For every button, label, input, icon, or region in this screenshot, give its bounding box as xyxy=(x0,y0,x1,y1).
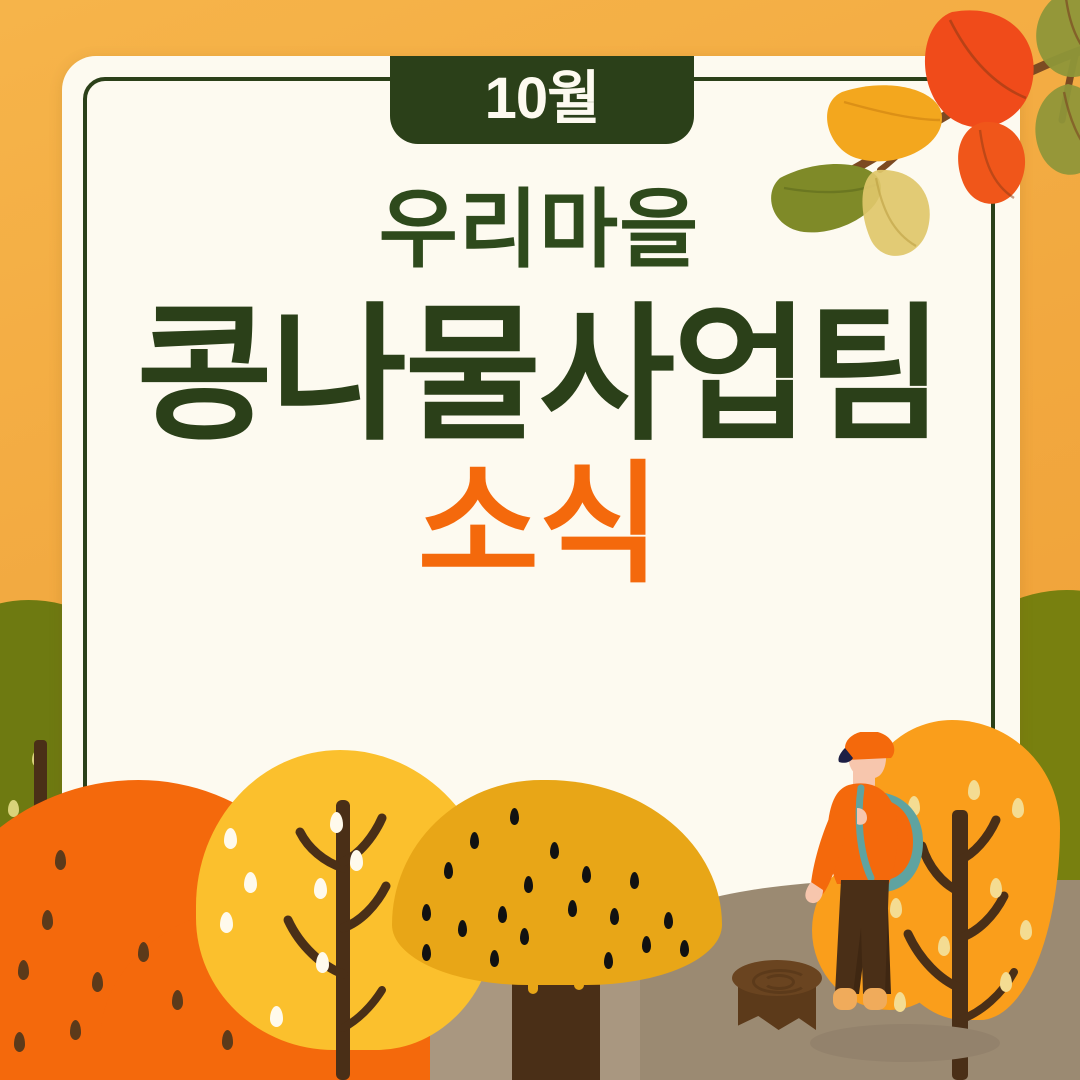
hiker-leg-front xyxy=(835,880,889,994)
bush-seed xyxy=(92,972,103,992)
mushroom-spot xyxy=(664,912,673,929)
yellow-tree-dot xyxy=(316,952,329,973)
mushroom-spot xyxy=(498,906,507,923)
hiker-shoe-right xyxy=(863,988,887,1010)
yellow-tree-dot xyxy=(220,912,233,933)
yellow-tree-dot xyxy=(224,828,237,849)
leaf-olive-right xyxy=(1035,84,1080,175)
mushroom-spot xyxy=(444,862,453,879)
hiker-shoe-left xyxy=(833,988,857,1010)
mushroom-spot xyxy=(458,920,467,937)
yellow-tree-dot xyxy=(330,812,343,833)
sub-title-text: 소식 xyxy=(83,458,995,593)
mushroom-spot xyxy=(422,904,431,921)
orange-tree-dot xyxy=(1020,920,1032,940)
bush-seed xyxy=(14,1032,25,1052)
mushroom-spot xyxy=(470,832,479,849)
mushroom-spot xyxy=(550,842,559,859)
mushroom-spot xyxy=(422,944,431,961)
yellow-tree-dot xyxy=(270,1006,283,1027)
mushroom-spot xyxy=(610,908,619,925)
mushroom-spot xyxy=(642,936,651,953)
bush-seed xyxy=(55,850,66,870)
yellow-tree-dot xyxy=(314,878,327,899)
mushroom-tree xyxy=(392,780,722,1080)
yellow-tree-dot xyxy=(244,872,257,893)
orange-tree-dot xyxy=(1012,798,1024,818)
stump-ring-inner xyxy=(763,974,795,990)
main-title-text: 콩나물사업팀 xyxy=(83,301,995,452)
mushroom-spot xyxy=(490,950,499,967)
mushroom-spot xyxy=(582,866,591,883)
bush-seed xyxy=(18,960,29,980)
bush-seed xyxy=(70,1020,81,1040)
orange-tree-dot xyxy=(968,780,980,800)
bush-seed xyxy=(138,942,149,962)
leaf-red-large xyxy=(925,10,1034,127)
leaf-amber xyxy=(827,85,942,161)
bush-seed xyxy=(42,910,53,930)
mushroom-spot xyxy=(510,808,519,825)
mushroom-spot xyxy=(630,872,639,889)
month-badge-label: 10월 xyxy=(485,70,600,131)
leaf-red-small xyxy=(958,122,1025,204)
bush-seed xyxy=(172,990,183,1010)
orange-tree-dot xyxy=(990,878,1002,898)
mushroom-cap xyxy=(392,780,722,985)
hiker-cap xyxy=(845,732,894,760)
autumn-leaf-branch xyxy=(770,0,1080,260)
poster-canvas: 10월 우리마을 콩나물사업팀 소식 xyxy=(0,0,1080,1080)
yellow-tree-dot xyxy=(350,850,363,871)
orange-tree-dot xyxy=(1000,972,1012,992)
mushroom-spot xyxy=(680,940,689,957)
hiker-character xyxy=(795,732,945,1052)
leaf-pale-yellow xyxy=(862,170,929,256)
mushroom-spot xyxy=(524,876,533,893)
bottom-scene xyxy=(0,660,1080,1080)
mushroom-spot xyxy=(604,952,613,969)
mushroom-spot xyxy=(520,928,529,945)
mushroom-spot xyxy=(568,900,577,917)
month-badge: 10월 xyxy=(390,56,694,144)
